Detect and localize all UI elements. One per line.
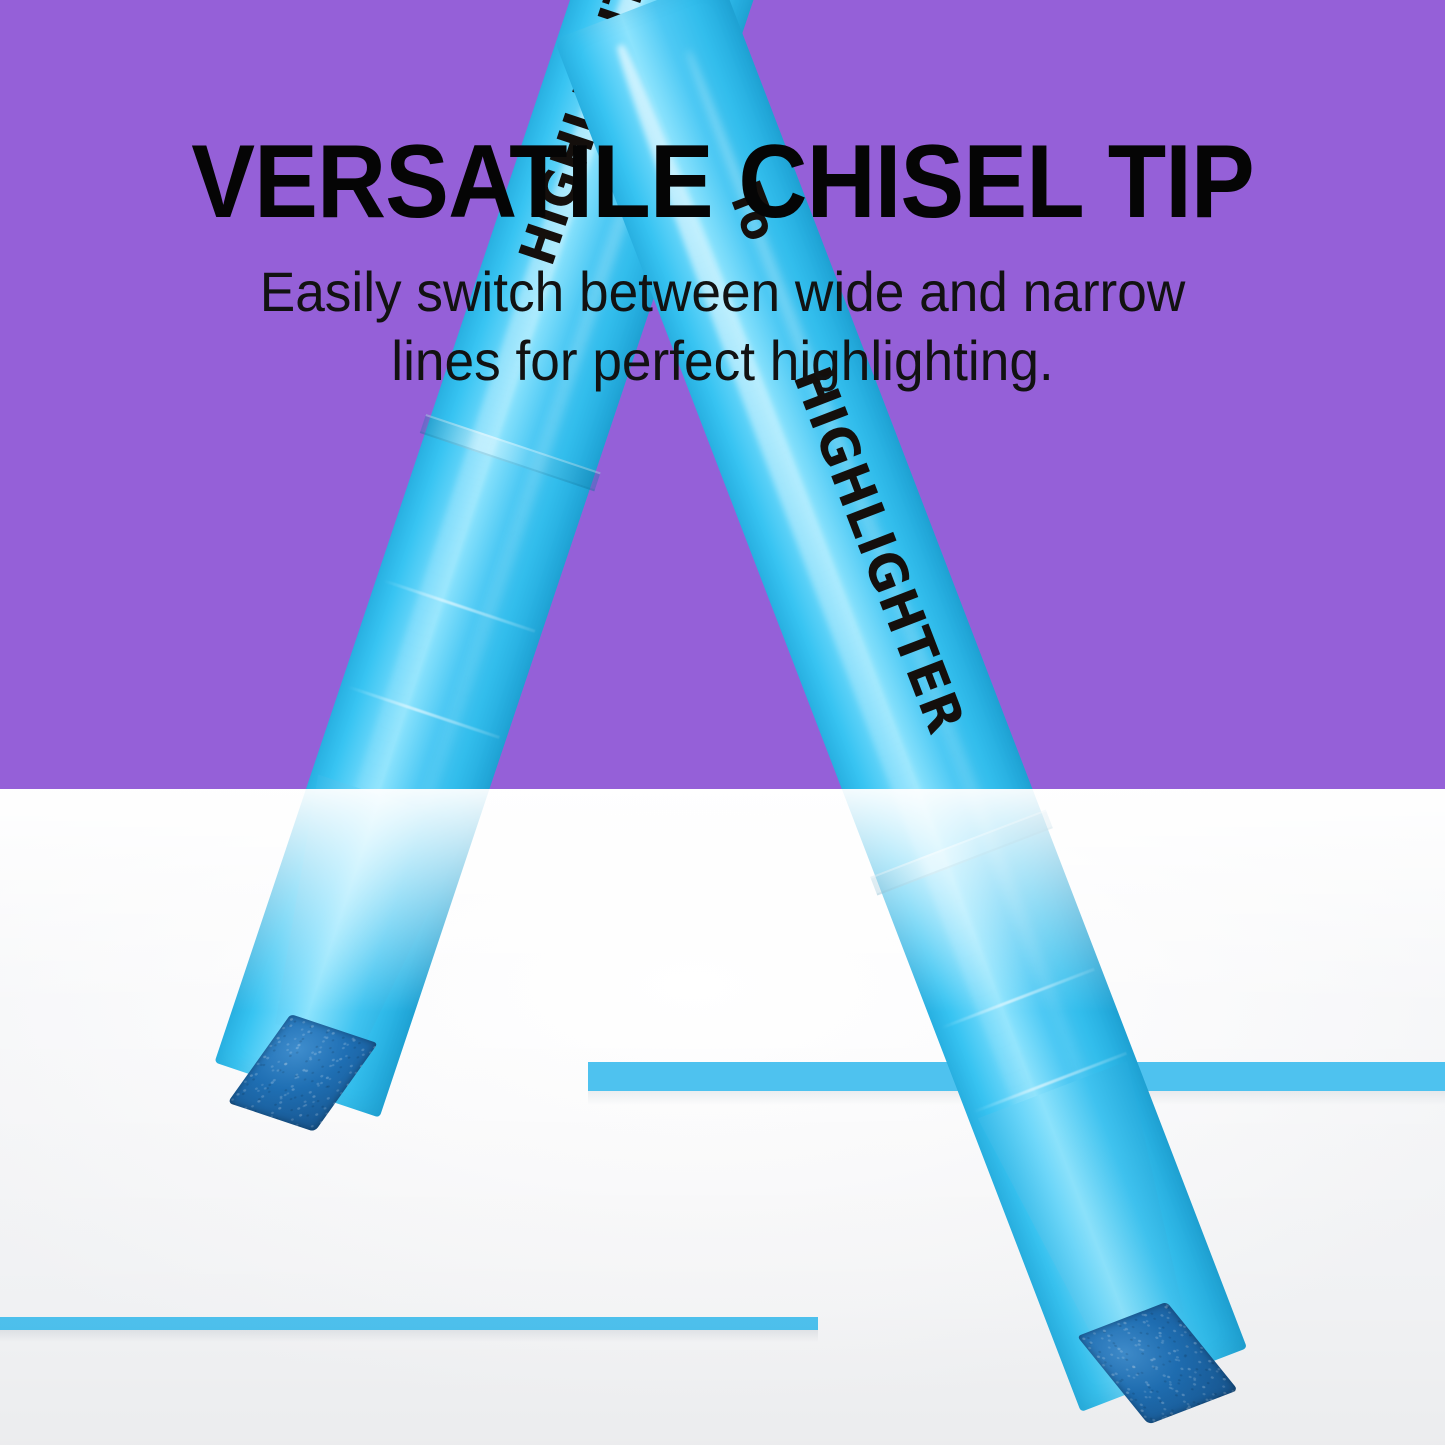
narrow-highlight-stroke [0,1317,818,1330]
product-feature-banner: HIGHLIGHTER HIGHLIGHTER To VERSATILE CHI… [0,0,1445,1445]
subheadline-line-2: lines for perfect highlighting. [247,327,1198,396]
page-headline: VERSATILE CHISEL TIP [58,130,1387,234]
subheadline-line-1: Easily switch between wide and narrow [247,258,1198,327]
narrow-stroke-shadow [0,1330,818,1342]
page-subheadline: Easily switch between wide and narrow li… [247,258,1198,396]
